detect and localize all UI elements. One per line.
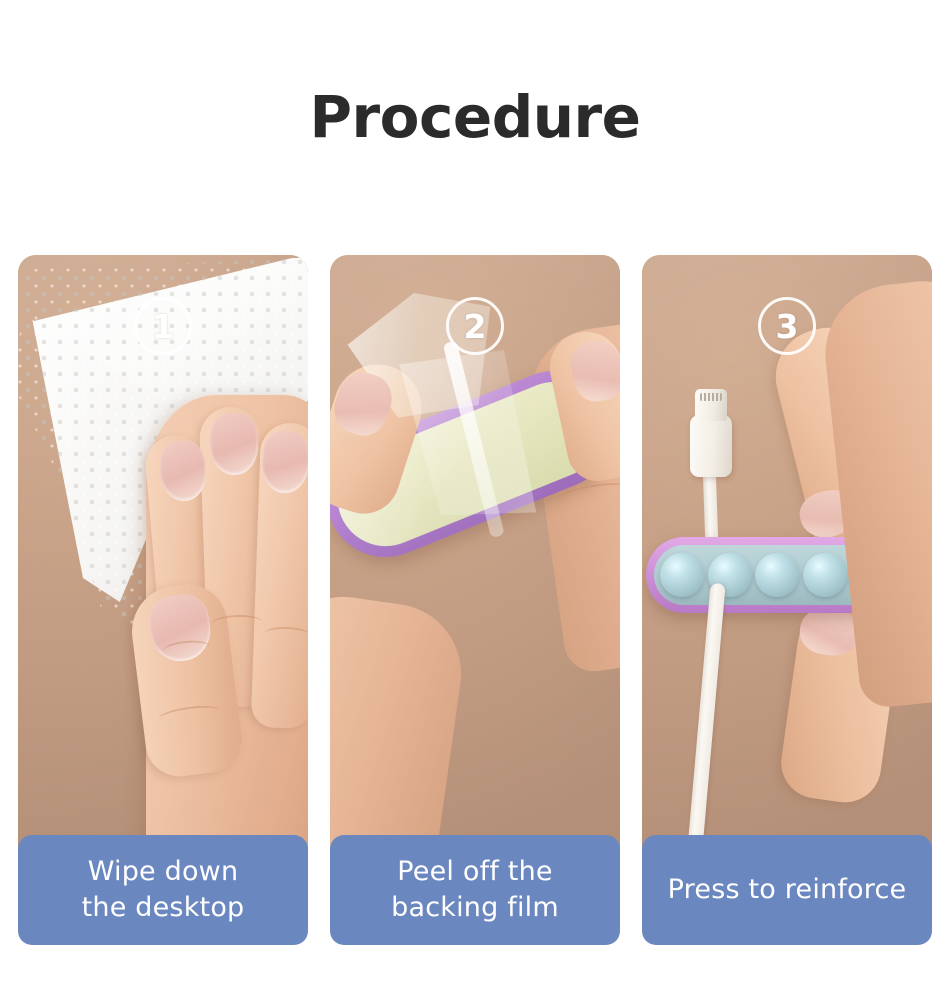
step-2-caption-line-1: Peel off the (397, 856, 552, 887)
procedure-step-2: 2 Peel off the backing film (330, 255, 620, 945)
step-1-caption: Wipe down the desktop (18, 835, 308, 945)
organizer-ball (755, 553, 799, 597)
fingernail (260, 430, 308, 494)
step-2-caption-line-2: backing film (391, 892, 559, 923)
fingernail (209, 412, 259, 476)
procedure-step-1: 1 Wipe down the desktop (18, 255, 308, 945)
lightning-connector-housing (690, 415, 732, 477)
step-3-photo: 3 (642, 255, 932, 880)
step-2-caption: Peel off the backing film (330, 835, 620, 945)
page-title: Procedure (0, 88, 950, 146)
step-number-badge-1: 1 (134, 297, 192, 355)
step-3-caption-line-1: Press to reinforce (668, 872, 907, 908)
organizer-ball (803, 553, 847, 597)
organizer-ball (660, 553, 704, 597)
step-number-badge-3: 3 (758, 297, 816, 355)
step-2-photo: 2 (330, 255, 620, 880)
step-3-caption: Press to reinforce (642, 835, 932, 945)
step-number-badge-2: 2 (446, 297, 504, 355)
procedure-steps-row: 1 Wipe down the desktop (18, 255, 932, 945)
step-1-photo: 1 (18, 255, 308, 880)
lightning-connector-pins (700, 393, 722, 401)
step-1-caption-line-1: Wipe down (88, 856, 239, 887)
procedure-step-3: 3 Press to reinforce (642, 255, 932, 945)
step-1-caption-line-2: the desktop (82, 892, 245, 923)
